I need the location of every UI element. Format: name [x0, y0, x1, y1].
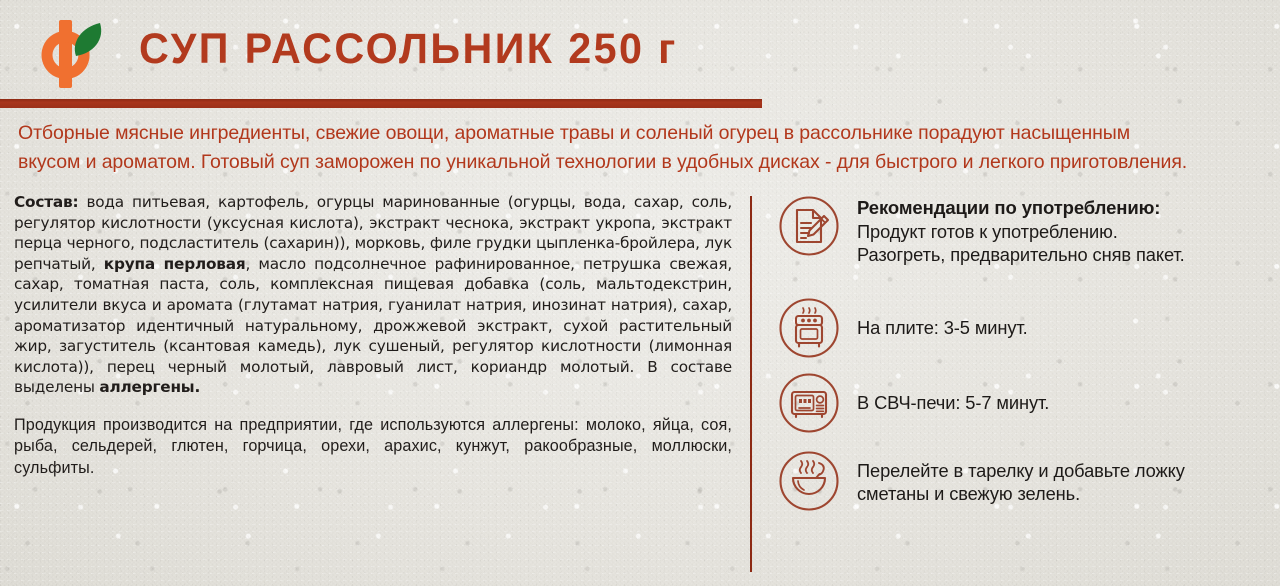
title-divider-rule	[0, 99, 762, 108]
instruction-text-recommendations: Рекомендации по употреблению: Продукт го…	[857, 195, 1185, 267]
instruction-line-ready: Продукт готов к употреблению.	[857, 220, 1185, 244]
instruction-row-microwave: В СВЧ-печи: 5-7 минут.	[778, 372, 1268, 434]
composition-column: Состав: вода питьевая, картофель, огурцы…	[14, 192, 732, 479]
instruction-line-serving-1: Перелейте в тарелку и добавьте ложку	[857, 459, 1185, 483]
composition-label: Состав:	[14, 193, 78, 211]
microwave-icon	[778, 372, 840, 434]
document-pencil-icon	[778, 195, 840, 257]
instruction-heading-recommendations: Рекомендации по употреблению:	[857, 196, 1185, 220]
usage-instructions-column: Рекомендации по употреблению: Продукт го…	[778, 195, 1268, 520]
instruction-line-reheat: Разогреть, предварительно сняв пакет.	[857, 243, 1185, 267]
page-title: СУП РАССОЛЬНИК 250 г	[139, 25, 678, 74]
intro-line-1: Отборные мясные ингредиенты, свежие овощ…	[18, 119, 1274, 148]
product-intro-description: Отборные мясные ингредиенты, свежие овощ…	[18, 119, 1274, 177]
instruction-row-serving: Перелейте в тарелку и добавьте ложку сме…	[778, 450, 1268, 512]
instruction-line-microwave-time: В СВЧ-печи: 5-7 минут.	[857, 391, 1049, 415]
stove-icon	[778, 297, 840, 359]
instruction-text-serving: Перелейте в тарелку и добавьте ложку сме…	[857, 450, 1185, 506]
instruction-text-microwave: В СВЧ-печи: 5-7 минут.	[857, 372, 1049, 415]
intro-line-2: вкусом и ароматом. Готовый суп заморожен…	[18, 148, 1274, 177]
column-divider-rule	[750, 196, 752, 572]
composition-text-part-2: , масло подсолнечное рафинированное, пет…	[14, 255, 732, 397]
instruction-line-stove-time: На плите: 3-5 минут.	[857, 316, 1028, 340]
instruction-line-serving-2: сметаны и свежую зелень.	[857, 482, 1185, 506]
brand-logo-phi-leaf-icon	[24, 18, 116, 90]
composition-highlight-allergens: аллергены.	[99, 378, 200, 396]
instruction-row-stove: На плите: 3-5 минут.	[778, 297, 1268, 359]
allergen-warning-paragraph: Продукция производится на предприятии, г…	[14, 415, 732, 480]
instruction-row-recommendations: Рекомендации по употреблению: Продукт го…	[778, 195, 1268, 267]
composition-paragraph: Состав: вода питьевая, картофель, огурцы…	[14, 192, 732, 398]
composition-highlight-grain: крупа перловая	[104, 255, 246, 273]
soup-bowl-icon	[778, 450, 840, 512]
instruction-text-stove: На плите: 3-5 минут.	[857, 297, 1028, 340]
product-label-root: СУП РАССОЛЬНИК 250 г Отборные мясные инг…	[0, 0, 1280, 586]
label-header: СУП РАССОЛЬНИК 250 г	[0, 0, 1280, 100]
